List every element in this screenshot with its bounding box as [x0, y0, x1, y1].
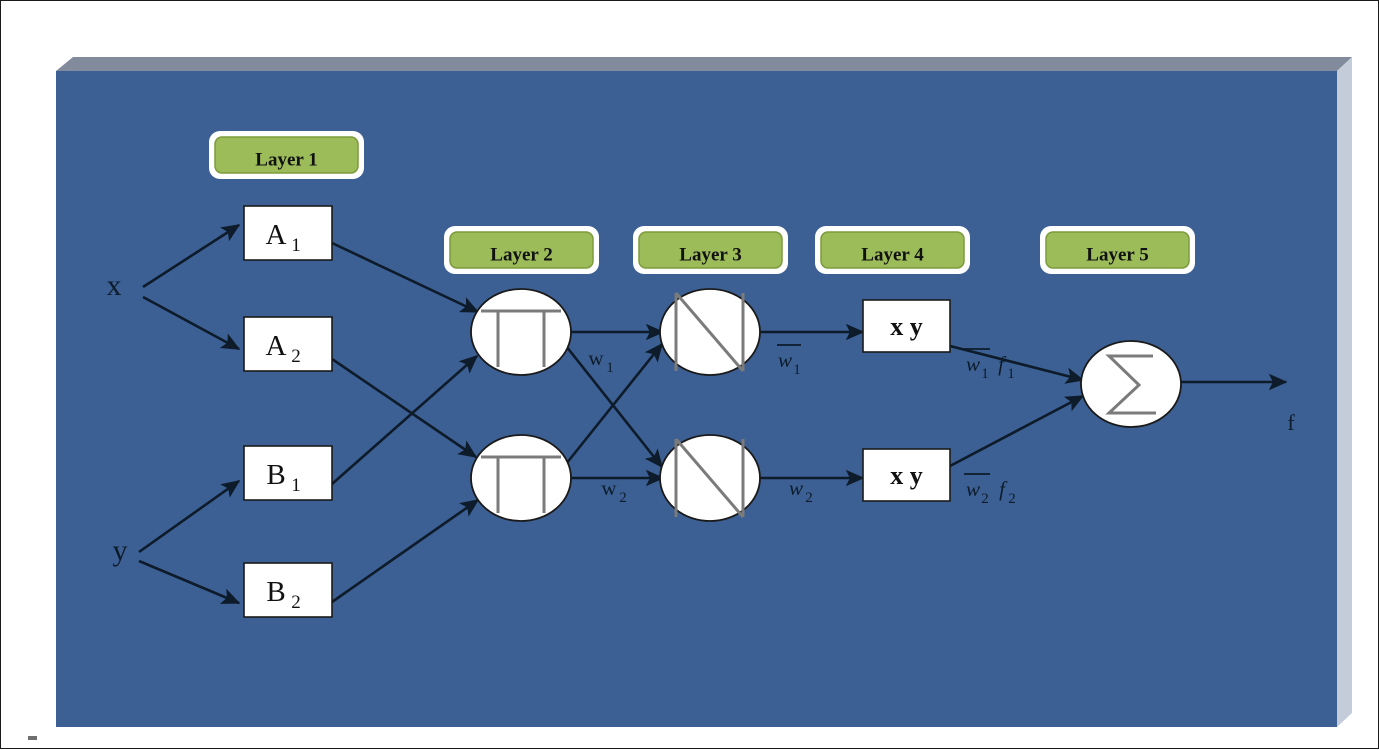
input-y-label: y	[113, 534, 128, 567]
panel-right-bevel	[1337, 57, 1352, 727]
layer4-node-xy-1[interactable]: x y	[863, 300, 950, 352]
layer3-node-n-1[interactable]	[660, 289, 760, 375]
w-base: w	[778, 348, 792, 372]
layer-badge-label: Layer 3	[679, 244, 741, 265]
product-node[interactable]	[471, 289, 571, 375]
f-sub: 2	[1008, 491, 1016, 507]
layer-badge-label: Layer 2	[490, 244, 552, 265]
layer-badge-5: Layer 5	[1040, 226, 1195, 274]
node-label-sub: 1	[291, 235, 301, 256]
node-label-sub: 2	[291, 346, 301, 367]
membership-box[interactable]	[244, 317, 332, 371]
w-base: w	[966, 477, 980, 501]
layer5-node-sum[interactable]	[1081, 341, 1181, 427]
node-label-base: B	[266, 576, 285, 608]
layer-badge-2: Layer 2	[444, 226, 599, 274]
layer2-node-pi-2[interactable]	[471, 435, 571, 521]
layer-badge-1: Layer 1	[209, 131, 364, 179]
layer1-node-a2[interactable]: A 2	[244, 317, 332, 371]
layer1-node-b2[interactable]: B 2	[244, 563, 332, 617]
node-label-base: A	[266, 330, 287, 362]
layer1-node-b1[interactable]: B 1	[244, 446, 332, 500]
node-label-sub: 1	[291, 475, 301, 496]
consequent-label: x y	[890, 461, 923, 490]
figure-page: Layer 1 Layer 2 Layer 3 Layer 4 Laye	[0, 0, 1379, 749]
product-node[interactable]	[471, 435, 571, 521]
w-sub: 2	[619, 490, 627, 506]
input-x-label: x	[107, 269, 122, 302]
node-label-sub: 2	[291, 592, 301, 613]
w-base: w	[966, 352, 980, 376]
w-sub: 2	[805, 490, 813, 506]
consequent-label: x y	[890, 312, 923, 341]
w-base: w	[601, 476, 617, 500]
page-artifact-mark	[28, 736, 37, 740]
w-base: w	[789, 476, 803, 500]
membership-box[interactable]	[244, 563, 332, 617]
f-sub: 1	[1007, 366, 1015, 382]
layer-badge-label: Layer 1	[255, 149, 317, 170]
node-label-base: B	[266, 459, 285, 491]
layer-badge-3: Layer 3	[633, 226, 788, 274]
layer1-node-a1[interactable]: A 1	[244, 206, 332, 260]
w-sub: 1	[981, 366, 989, 382]
w-base: w	[588, 346, 604, 370]
output-f-label: f	[1287, 410, 1295, 435]
node-label-base: A	[266, 219, 287, 251]
anfis-diagram: Layer 1 Layer 2 Layer 3 Layer 4 Laye	[1, 1, 1379, 750]
membership-box[interactable]	[244, 206, 332, 260]
w-sub: 2	[981, 491, 989, 507]
panel-top-bevel	[56, 57, 1352, 71]
layer-badge-label: Layer 5	[1086, 244, 1148, 265]
layer-badge-label: Layer 4	[861, 244, 924, 265]
layer-badge-4: Layer 4	[815, 226, 970, 274]
layer4-node-xy-2[interactable]: x y	[863, 449, 950, 501]
w-sub: 1	[793, 362, 801, 378]
layer2-node-pi-1[interactable]	[471, 289, 571, 375]
w-sub: 1	[606, 360, 614, 376]
membership-box[interactable]	[244, 446, 332, 500]
layer3-node-n-2[interactable]	[660, 435, 760, 521]
